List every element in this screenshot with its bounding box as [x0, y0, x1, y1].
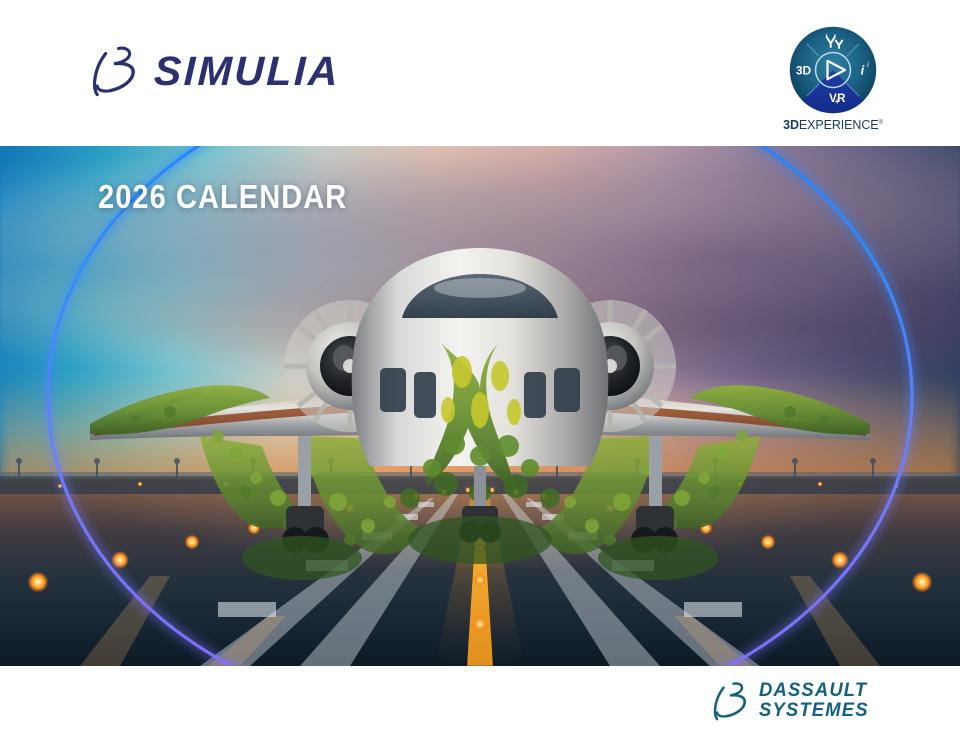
caption-experience: EXPERIENCE [799, 118, 879, 132]
svg-text:+: + [835, 97, 840, 106]
dassault-systemes-logo[interactable]: DASSAULT SYSTEMES [710, 680, 872, 722]
simulia-brand-lockup: SIMULIA [88, 44, 340, 98]
3dexperience-compass-icon: 3D i i V R + [775, 24, 891, 116]
aircraft-illustration [50, 240, 910, 600]
page-footer: DASSAULT SYSTEMES [0, 666, 960, 741]
3ds-logo-icon [710, 680, 750, 722]
corp-line-dassault: DASSAULT [759, 681, 869, 701]
svg-text:i: i [861, 63, 865, 78]
caption-3d: 3D [783, 118, 799, 132]
hero-image: 2026 CALENDAR [0, 146, 960, 666]
svg-text:3D: 3D [796, 64, 812, 78]
corp-line-systemes: SYSTEMES [759, 701, 869, 721]
page-title: 2026 CALENDAR [98, 178, 347, 216]
page-header: SIMULIA [0, 0, 960, 146]
dassault-systemes-wordmark: DASSAULT SYSTEMES [759, 681, 869, 720]
3ds-logo-icon [88, 44, 140, 98]
registered-mark: ® [879, 120, 883, 126]
brand-name-simulia: SIMULIA [153, 51, 340, 92]
calendar-cover-page: SIMULIA [0, 0, 960, 741]
3dexperience-caption: 3DEXPERIENCE® [775, 119, 891, 132]
3dexperience-logo[interactable]: 3D i i V R + 3DEXPERIENCE® [775, 24, 891, 132]
